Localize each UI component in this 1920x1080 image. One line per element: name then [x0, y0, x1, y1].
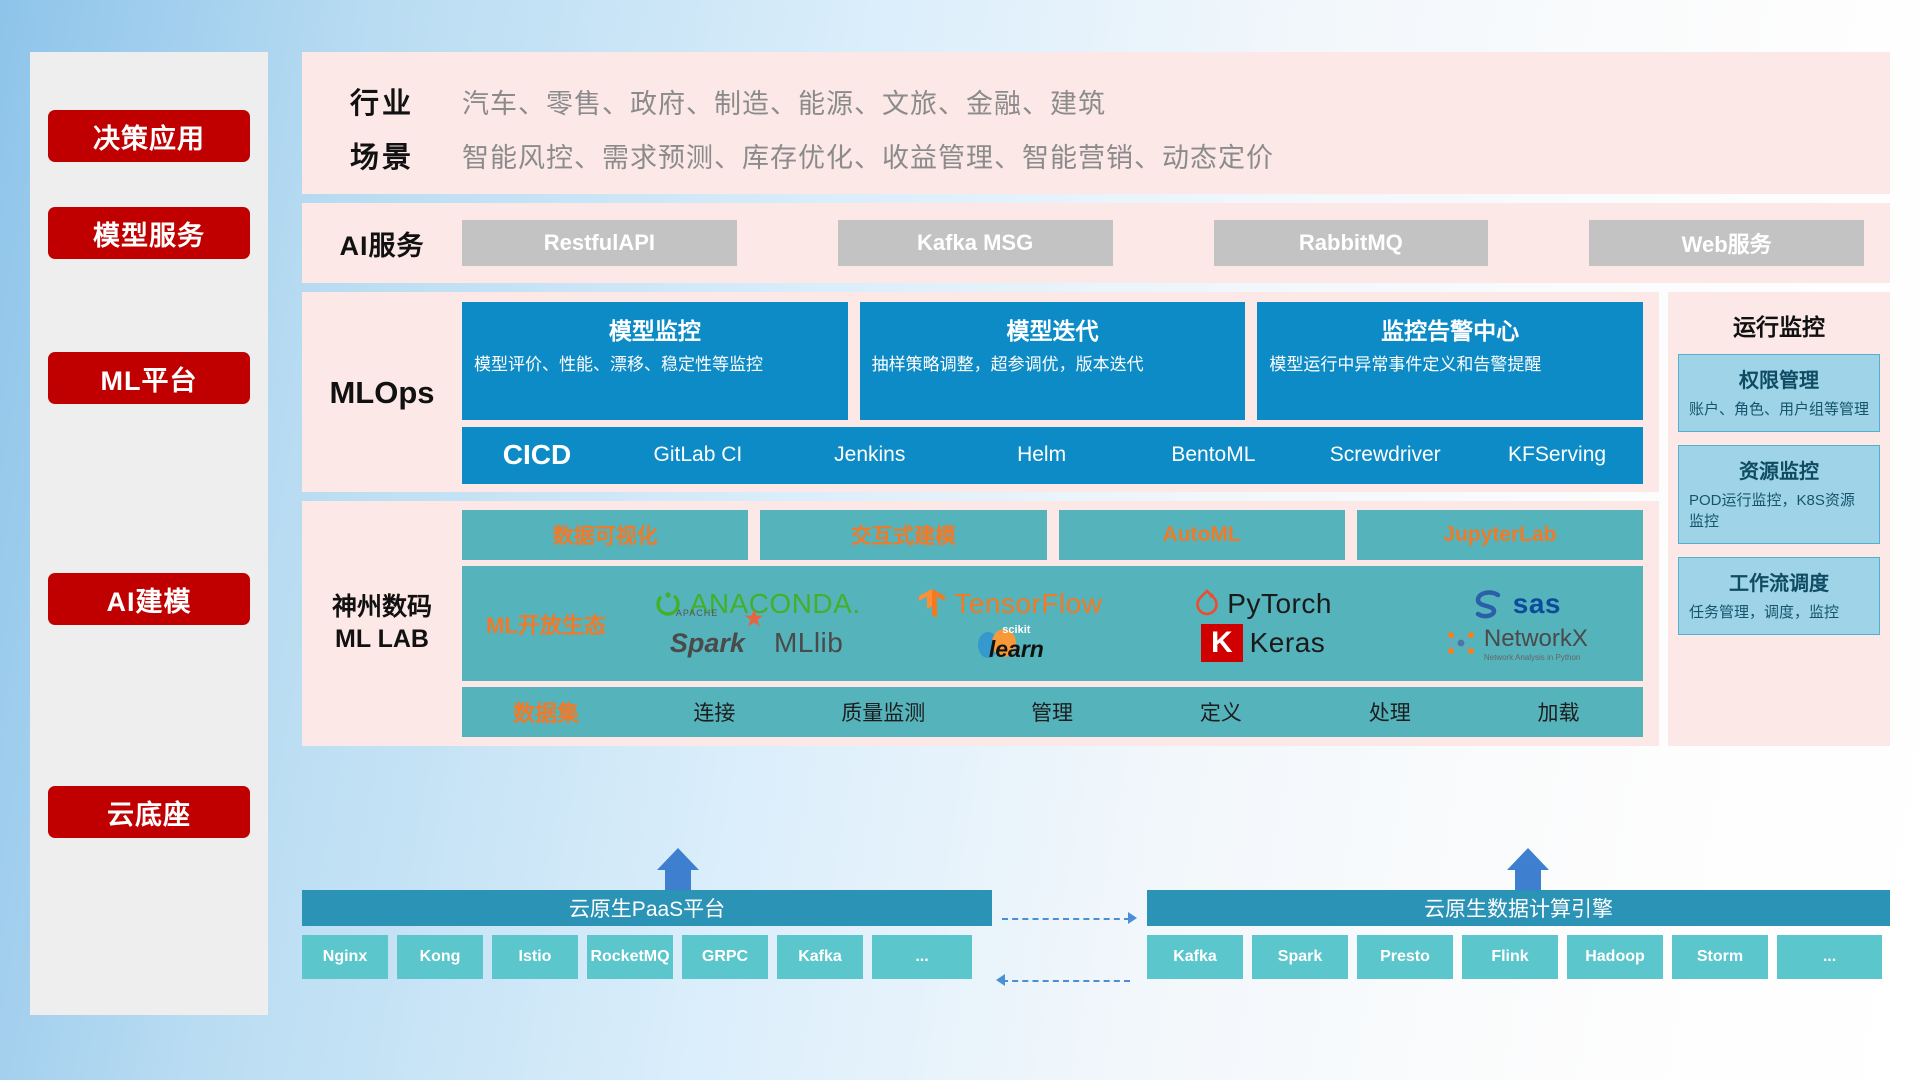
logo-scikit-learn: scikit learn — [883, 624, 1136, 663]
card-desc: POD运行监控，K8S资源监控 — [1689, 490, 1869, 532]
mlops-label: MLOps — [302, 302, 462, 484]
industry-label: 行业 — [302, 80, 462, 122]
ai-service-item-web[interactable]: Web服务 — [1589, 220, 1864, 266]
scenario-row: 场景 智能风控、需求预测、库存优化、收益管理、智能营销、动态定价 — [302, 128, 1890, 182]
mllab-label-line2: ML LAB — [335, 624, 429, 655]
cicd-item-screwdriver[interactable]: Screwdriver — [1299, 440, 1471, 470]
cloud-chip-kong[interactable]: Kong — [397, 935, 483, 979]
card-title: 模型迭代 — [1007, 312, 1099, 346]
dataset-label: 数据集 — [462, 696, 630, 728]
networkx-icon — [1445, 628, 1477, 658]
card-title: 权限管理 — [1689, 364, 1869, 393]
monitor-panel: 运行监控 权限管理 账户、角色、用户组等管理 资源监控 POD运行监控，K8S资… — [1668, 292, 1890, 746]
mlops-card-alert-center[interactable]: 监控告警中心 模型运行中异常事件定义和告警提醒 — [1257, 302, 1643, 420]
mllab-label-line1: 神州数码 — [332, 592, 432, 623]
card-title: 工作流调度 — [1689, 567, 1869, 596]
monitor-title: 运行监控 — [1678, 308, 1880, 342]
ml-ecosystem-logos: ANACONDA. TensorFlow — [630, 585, 1643, 663]
cloud-chip-kafka2[interactable]: Kafka — [1147, 935, 1243, 979]
dataset-item-manage[interactable]: 管理 — [968, 697, 1137, 727]
mlops-cards: 模型监控 模型评价、性能、漂移、稳定性等监控 模型迭代 抽样策略调整，超参调优，… — [462, 302, 1643, 484]
mllab-content: 数据可视化 交互式建模 AutoML JupyterLab ML开放生态 — [462, 510, 1643, 737]
cloud-chip-hadoop[interactable]: Hadoop — [1567, 935, 1663, 979]
scenario-label: 场景 — [302, 134, 462, 176]
cicd-item-jenkins[interactable]: Jenkins — [784, 440, 956, 470]
logo-networkx: NetworkX Network Analysis in Python — [1390, 625, 1643, 662]
dataset-item-define[interactable]: 定义 — [1136, 697, 1305, 727]
left-layer-rail: 决策应用 模型服务 ML平台 AI建模 云底座 — [30, 52, 268, 1015]
cloud-paas-chips: Nginx Kong Istio RocketMQ GRPC Kafka ... — [302, 935, 992, 979]
scenario-list: 智能风控、需求预测、库存优化、收益管理、智能营销、动态定价 — [462, 136, 1274, 175]
industry-band: 行业 汽车、零售、政府、制造、能源、文旅、金融、建筑 场景 智能风控、需求预测、… — [302, 52, 1890, 194]
cloud-chip-rocketmq[interactable]: RocketMQ — [587, 935, 673, 979]
tab-jupyterlab[interactable]: JupyterLab — [1357, 510, 1643, 560]
networkx-tagline: Network Analysis in Python — [1484, 653, 1588, 662]
cloud-engine-group: 云原生数据计算引擎 Kafka Spark Presto Flink Hadoo… — [1147, 890, 1890, 979]
cicd-item-gitlab-ci[interactable]: GitLab CI — [612, 440, 784, 470]
cloud-chip-flink[interactable]: Flink — [1462, 935, 1558, 979]
tab-interactive-modeling[interactable]: 交互式建模 — [760, 510, 1046, 560]
logo-keras: K Keras — [1137, 624, 1390, 662]
logo-label: learn — [989, 636, 1044, 663]
rail-chip-cloud-base[interactable]: 云底座 — [48, 786, 250, 838]
dataset-row: 数据集 连接 质量监测 管理 定义 处理 加载 — [462, 687, 1643, 737]
card-desc: 任务管理，调度，监控 — [1689, 602, 1869, 623]
mlops-band: MLOps 模型监控 模型评价、性能、漂移、稳定性等监控 模型迭代 抽样策略调整… — [302, 292, 1659, 492]
card-desc: 账户、角色、用户组等管理 — [1689, 399, 1869, 420]
tab-data-visualization[interactable]: 数据可视化 — [462, 510, 748, 560]
keras-k-icon: K — [1201, 624, 1243, 662]
card-desc: 模型评价、性能、漂移、稳定性等监控 — [474, 354, 836, 377]
cloud-chip-storm[interactable]: Storm — [1672, 935, 1768, 979]
tab-automl[interactable]: AutoML — [1059, 510, 1345, 560]
mllab-label: 神州数码 ML LAB — [302, 510, 462, 737]
mlops-card-row: 模型监控 模型评价、性能、漂移、稳定性等监控 模型迭代 抽样策略调整，超参调优，… — [462, 302, 1643, 420]
logo-label: sas — [1513, 588, 1561, 620]
rail-chip-ai-modeling[interactable]: AI建模 — [48, 573, 250, 625]
cloud-chip-kafka[interactable]: Kafka — [777, 935, 863, 979]
dashed-connector-top — [1002, 918, 1130, 920]
dataset-item-connect[interactable]: 连接 — [630, 697, 799, 727]
spark-apache-label: APACHE — [676, 608, 718, 618]
mlops-card-model-monitoring[interactable]: 模型监控 模型评价、性能、漂移、稳定性等监控 — [462, 302, 848, 420]
logo-label: PyTorch — [1227, 588, 1332, 620]
monitor-card-workflow[interactable]: 工作流调度 任务管理，调度，监控 — [1678, 557, 1880, 635]
dataset-item-quality[interactable]: 质量监测 — [799, 697, 968, 727]
pytorch-icon — [1194, 588, 1220, 620]
card-desc: 模型运行中异常事件定义和告警提醒 — [1269, 354, 1631, 377]
industry-row: 行业 汽车、零售、政府、制造、能源、文旅、金融、建筑 — [302, 74, 1890, 128]
cicd-item-kfserving[interactable]: KFServing — [1471, 440, 1643, 470]
spark-wordmark: Spark — [670, 628, 745, 658]
rail-chip-decision[interactable]: 决策应用 — [48, 110, 250, 162]
monitor-card-resources[interactable]: 资源监控 POD运行监控，K8S资源监控 — [1678, 445, 1880, 544]
cicd-bar: CICD GitLab CI Jenkins Helm BentoML Scre… — [462, 427, 1643, 484]
card-title: 资源监控 — [1689, 455, 1869, 484]
cloud-chip-presto[interactable]: Presto — [1357, 935, 1453, 979]
cloud-chip-more[interactable]: ... — [872, 935, 972, 979]
spark-star-icon — [743, 608, 765, 630]
card-title: 模型监控 — [609, 312, 701, 346]
dataset-item-process[interactable]: 处理 — [1305, 697, 1474, 727]
ai-service-item-rabbitmq[interactable]: RabbitMQ — [1214, 220, 1489, 266]
cloud-engine-title: 云原生数据计算引擎 — [1147, 890, 1890, 926]
cloud-paas-group: 云原生PaaS平台 Nginx Kong Istio RocketMQ GRPC… — [302, 890, 992, 979]
architecture-main: 行业 汽车、零售、政府、制造、能源、文旅、金融、建筑 场景 智能风控、需求预测、… — [302, 52, 1890, 746]
ai-service-item-kafka-msg[interactable]: Kafka MSG — [838, 220, 1113, 266]
mllab-band: 神州数码 ML LAB 数据可视化 交互式建模 AutoML JupyterLa… — [302, 501, 1659, 746]
sas-icon — [1472, 588, 1506, 620]
cicd-item-bentoml[interactable]: BentoML — [1127, 440, 1299, 470]
mllab-tabs: 数据可视化 交互式建模 AutoML JupyterLab — [462, 510, 1643, 560]
rail-chip-model-service[interactable]: 模型服务 — [48, 207, 250, 259]
cloud-base-section: 云原生PaaS平台 Nginx Kong Istio RocketMQ GRPC… — [302, 880, 1890, 1040]
cloud-chip-more2[interactable]: ... — [1777, 935, 1882, 979]
logo-pytorch: PyTorch — [1137, 588, 1390, 620]
cicd-label: CICD — [462, 439, 612, 471]
logo-tensorflow: TensorFlow — [883, 587, 1136, 621]
tensorflow-icon — [917, 587, 947, 621]
rail-chip-ml-platform[interactable]: ML平台 — [48, 352, 250, 404]
cicd-item-helm[interactable]: Helm — [956, 440, 1128, 470]
logo-label: NetworkX — [1484, 625, 1588, 653]
dashed-connector-bottom — [1002, 980, 1130, 982]
logo-label: Keras — [1250, 627, 1326, 659]
dataset-item-load[interactable]: 加载 — [1474, 697, 1643, 727]
mlops-card-model-iteration[interactable]: 模型迭代 抽样策略调整，超参调优，版本迭代 — [860, 302, 1246, 420]
card-title: 监控告警中心 — [1381, 312, 1519, 346]
dashed-arrow-left — [996, 974, 1005, 986]
ai-service-item-restfulapi[interactable]: RestfulAPI — [462, 220, 737, 266]
logo-label: TensorFlow — [954, 588, 1102, 620]
dashed-arrow-right — [1128, 912, 1137, 924]
ai-service-list: RestfulAPI Kafka MSG RabbitMQ Web服务 — [462, 220, 1890, 266]
ml-ecosystem-row: ML开放生态 ANACONDA. — [462, 566, 1643, 681]
logo-spark-mllib: APACHE Spark MLlib — [630, 627, 883, 659]
ml-ecosystem-label: ML开放生态 — [462, 608, 630, 640]
logo-sas: sas — [1390, 588, 1643, 620]
ai-service-band: AI服务 RestfulAPI Kafka MSG RabbitMQ Web服务 — [302, 203, 1890, 283]
platform-left-column: MLOps 模型监控 模型评价、性能、漂移、稳定性等监控 模型迭代 抽样策略调整… — [302, 292, 1659, 746]
cloud-chip-nginx[interactable]: Nginx — [302, 935, 388, 979]
monitor-card-permissions[interactable]: 权限管理 账户、角色、用户组等管理 — [1678, 354, 1880, 432]
cloud-paas-title: 云原生PaaS平台 — [302, 890, 992, 926]
cloud-engine-chips: Kafka Spark Presto Flink Hadoop Storm ..… — [1147, 935, 1890, 979]
cloud-chip-spark[interactable]: Spark — [1252, 935, 1348, 979]
scikit-label: scikit — [989, 624, 1044, 636]
ai-service-label: AI服务 — [302, 224, 462, 263]
cloud-chip-istio[interactable]: Istio — [492, 935, 578, 979]
logo-label: MLlib — [774, 627, 843, 659]
cloud-chip-grpc[interactable]: GRPC — [682, 935, 768, 979]
platform-row: MLOps 模型监控 模型评价、性能、漂移、稳定性等监控 模型迭代 抽样策略调整… — [302, 292, 1890, 746]
industry-list: 汽车、零售、政府、制造、能源、文旅、金融、建筑 — [462, 82, 1106, 121]
card-desc: 抽样策略调整，超参调优，版本迭代 — [872, 354, 1234, 377]
